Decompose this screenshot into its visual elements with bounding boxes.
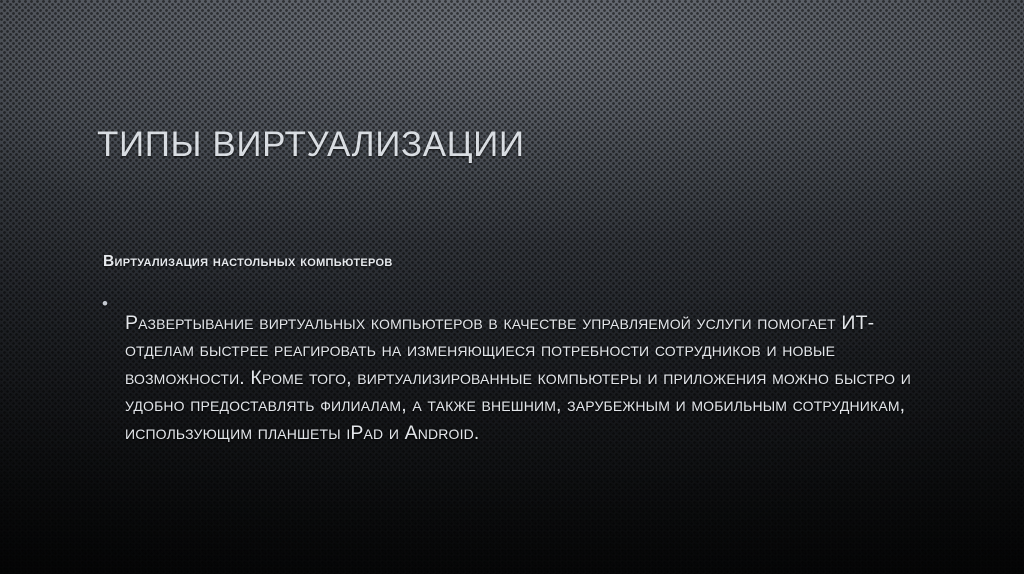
bullet-list-item: • Развертывание виртуальных компьютеров … bbox=[97, 290, 942, 467]
section-subheading: Виртуализация настольных компьютеров bbox=[103, 252, 942, 272]
slide-body: Виртуализация настольных компьютеров • Р… bbox=[97, 252, 942, 467]
bullet-point-icon: • bbox=[97, 290, 125, 317]
presentation-slide: Типы виртуализации Виртуализация настоль… bbox=[0, 0, 1024, 574]
slide-title: Типы виртуализации bbox=[97, 124, 525, 166]
slide-content: Типы виртуализации Виртуализация настоль… bbox=[0, 0, 1024, 574]
bullet-item-text: Развертывание виртуальных компьютеров в … bbox=[125, 310, 942, 448]
